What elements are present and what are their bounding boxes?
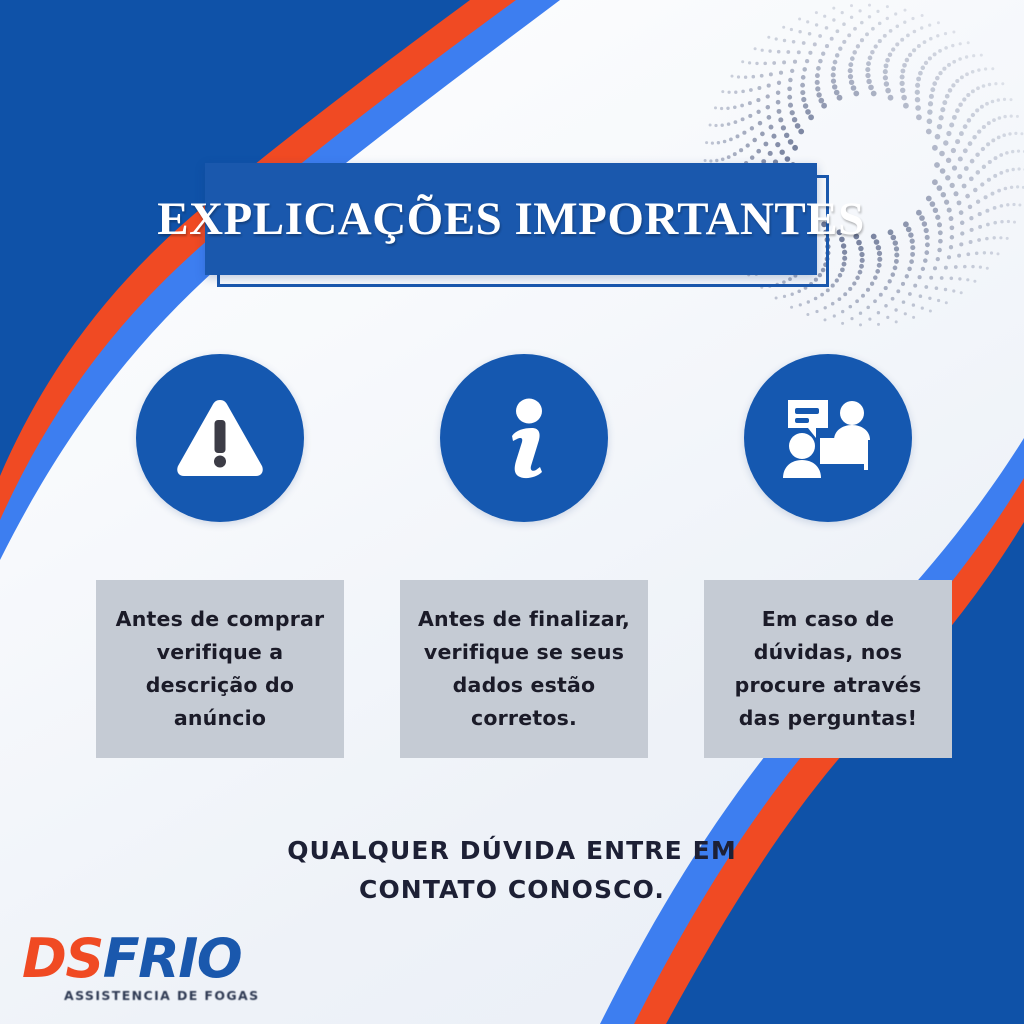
footer-line-1: QUALQUER DÚVIDA ENTRE EM — [212, 832, 812, 871]
icon-cell-support — [704, 352, 952, 524]
logo-wordmark: DSFRIO — [22, 932, 292, 986]
info-card-1-text: Antes de comprar verifique a descrição d… — [106, 603, 334, 736]
logo-frio-text: FRIO — [103, 927, 241, 990]
text-box-row: Antes de comprar verifique a descrição d… — [96, 580, 952, 758]
title-banner-group: EXPLICAÇÕES IMPORTANTES — [205, 163, 817, 275]
info-card-2-text: Antes de finalizar, verifique se seus da… — [410, 603, 638, 736]
logo-ds-text: DS — [22, 927, 103, 990]
info-card-3: Em caso de dúvidas, nos procure através … — [704, 580, 952, 758]
info-card-3-text: Em caso de dúvidas, nos procure através … — [714, 603, 942, 736]
icon-row — [96, 352, 952, 524]
customer-support-icon — [744, 354, 912, 522]
footer-line-2: CONTATO CONOSCO. — [212, 871, 812, 910]
icon-cell-warning — [96, 352, 344, 524]
title-banner: EXPLICAÇÕES IMPORTANTES — [205, 163, 817, 275]
logo-tagline: ASSISTENCIA DE FOGAS — [64, 988, 292, 1003]
page-title: EXPLICAÇÕES IMPORTANTES — [157, 192, 865, 246]
info-card-1: Antes de comprar verifique a descrição d… — [96, 580, 344, 758]
footer-message: QUALQUER DÚVIDA ENTRE EM CONTATO CONOSCO… — [212, 832, 812, 910]
poster-canvas: EXPLICAÇÕES IMPORTANTES — [0, 0, 1024, 1024]
info-circle-icon — [440, 354, 608, 522]
icon-cell-info — [400, 352, 648, 524]
warning-triangle-icon — [136, 354, 304, 522]
info-card-2: Antes de finalizar, verifique se seus da… — [400, 580, 648, 758]
brand-logo: DSFRIO ASSISTENCIA DE FOGAS — [22, 932, 292, 1012]
